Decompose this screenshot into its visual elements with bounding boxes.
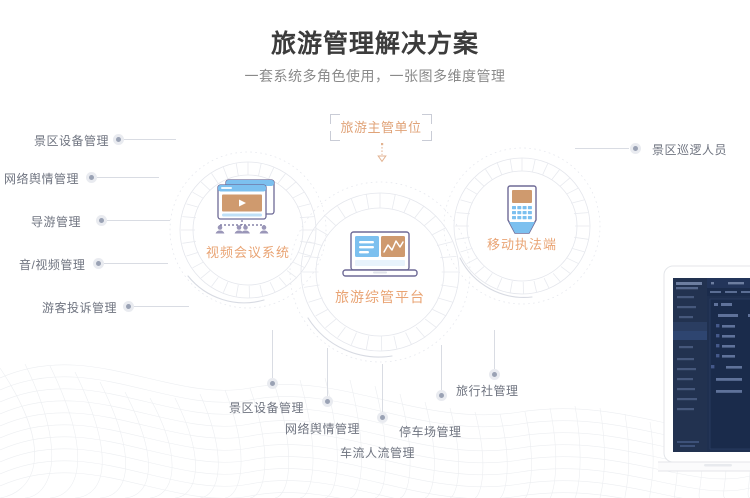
left-dot-1[interactable] bbox=[86, 172, 97, 183]
bottom-dot-1[interactable] bbox=[322, 396, 333, 407]
right-lead-0 bbox=[575, 148, 629, 149]
bottom-lead-3 bbox=[441, 345, 442, 390]
left-dot-0[interactable] bbox=[113, 134, 124, 145]
page-subtitle: 一套系统多角色使用，一张图多维度管理 bbox=[0, 66, 750, 86]
page-title: 旅游管理解决方案 bbox=[0, 24, 750, 60]
down-arrow-icon bbox=[370, 142, 394, 166]
node-label-mobile-enforcement: 移动执法端 bbox=[442, 234, 602, 253]
left-label-0: 景区设备管理 bbox=[34, 132, 109, 149]
left-label-3: 音/视频管理 bbox=[19, 256, 85, 273]
bottom-lead-1 bbox=[327, 348, 328, 396]
authority-label: 旅游主管单位 bbox=[330, 114, 432, 141]
right-label-0: 景区巡逻人员 bbox=[652, 141, 727, 158]
bottom-dot-2[interactable] bbox=[377, 412, 388, 423]
bottom-lead-0 bbox=[272, 330, 273, 378]
right-dot-0[interactable] bbox=[630, 143, 641, 154]
left-lead-4 bbox=[134, 306, 189, 307]
bottom-label-0: 景区设备管理 bbox=[229, 399, 304, 416]
left-lead-2 bbox=[107, 220, 170, 221]
bottom-label-2: 车流人流管理 bbox=[340, 444, 415, 461]
bottom-dot-3[interactable] bbox=[436, 390, 447, 401]
left-label-1: 网络舆情管理 bbox=[4, 170, 79, 187]
laptop-device-mockup bbox=[658, 258, 750, 488]
authority-box: 旅游主管单位 bbox=[330, 114, 432, 141]
left-label-4: 游客投诉管理 bbox=[42, 299, 117, 316]
left-dot-4[interactable] bbox=[123, 301, 134, 312]
bottom-dot-0[interactable] bbox=[267, 378, 278, 389]
bottom-lead-2 bbox=[382, 364, 383, 412]
left-dot-3[interactable] bbox=[93, 258, 104, 269]
solution-infographic: 旅游管理解决方案 一套系统多角色使用，一张图多维度管理 旅游主管单位 bbox=[0, 0, 750, 498]
left-lead-0 bbox=[124, 139, 176, 140]
left-lead-1 bbox=[97, 177, 159, 178]
bottom-label-3: 停车场管理 bbox=[399, 423, 462, 440]
bottom-label-1: 网络舆情管理 bbox=[285, 420, 360, 437]
left-label-2: 导游管理 bbox=[31, 213, 81, 230]
laptop-dashboard-icon bbox=[337, 230, 423, 282]
left-lead-3 bbox=[104, 263, 168, 264]
bottom-label-4: 旅行社管理 bbox=[456, 382, 519, 399]
handheld-device-icon bbox=[502, 184, 542, 238]
bottom-lead-4 bbox=[494, 330, 495, 369]
left-dot-2[interactable] bbox=[96, 215, 107, 226]
bottom-dot-4[interactable] bbox=[489, 369, 500, 380]
video-window-icon bbox=[204, 176, 282, 234]
